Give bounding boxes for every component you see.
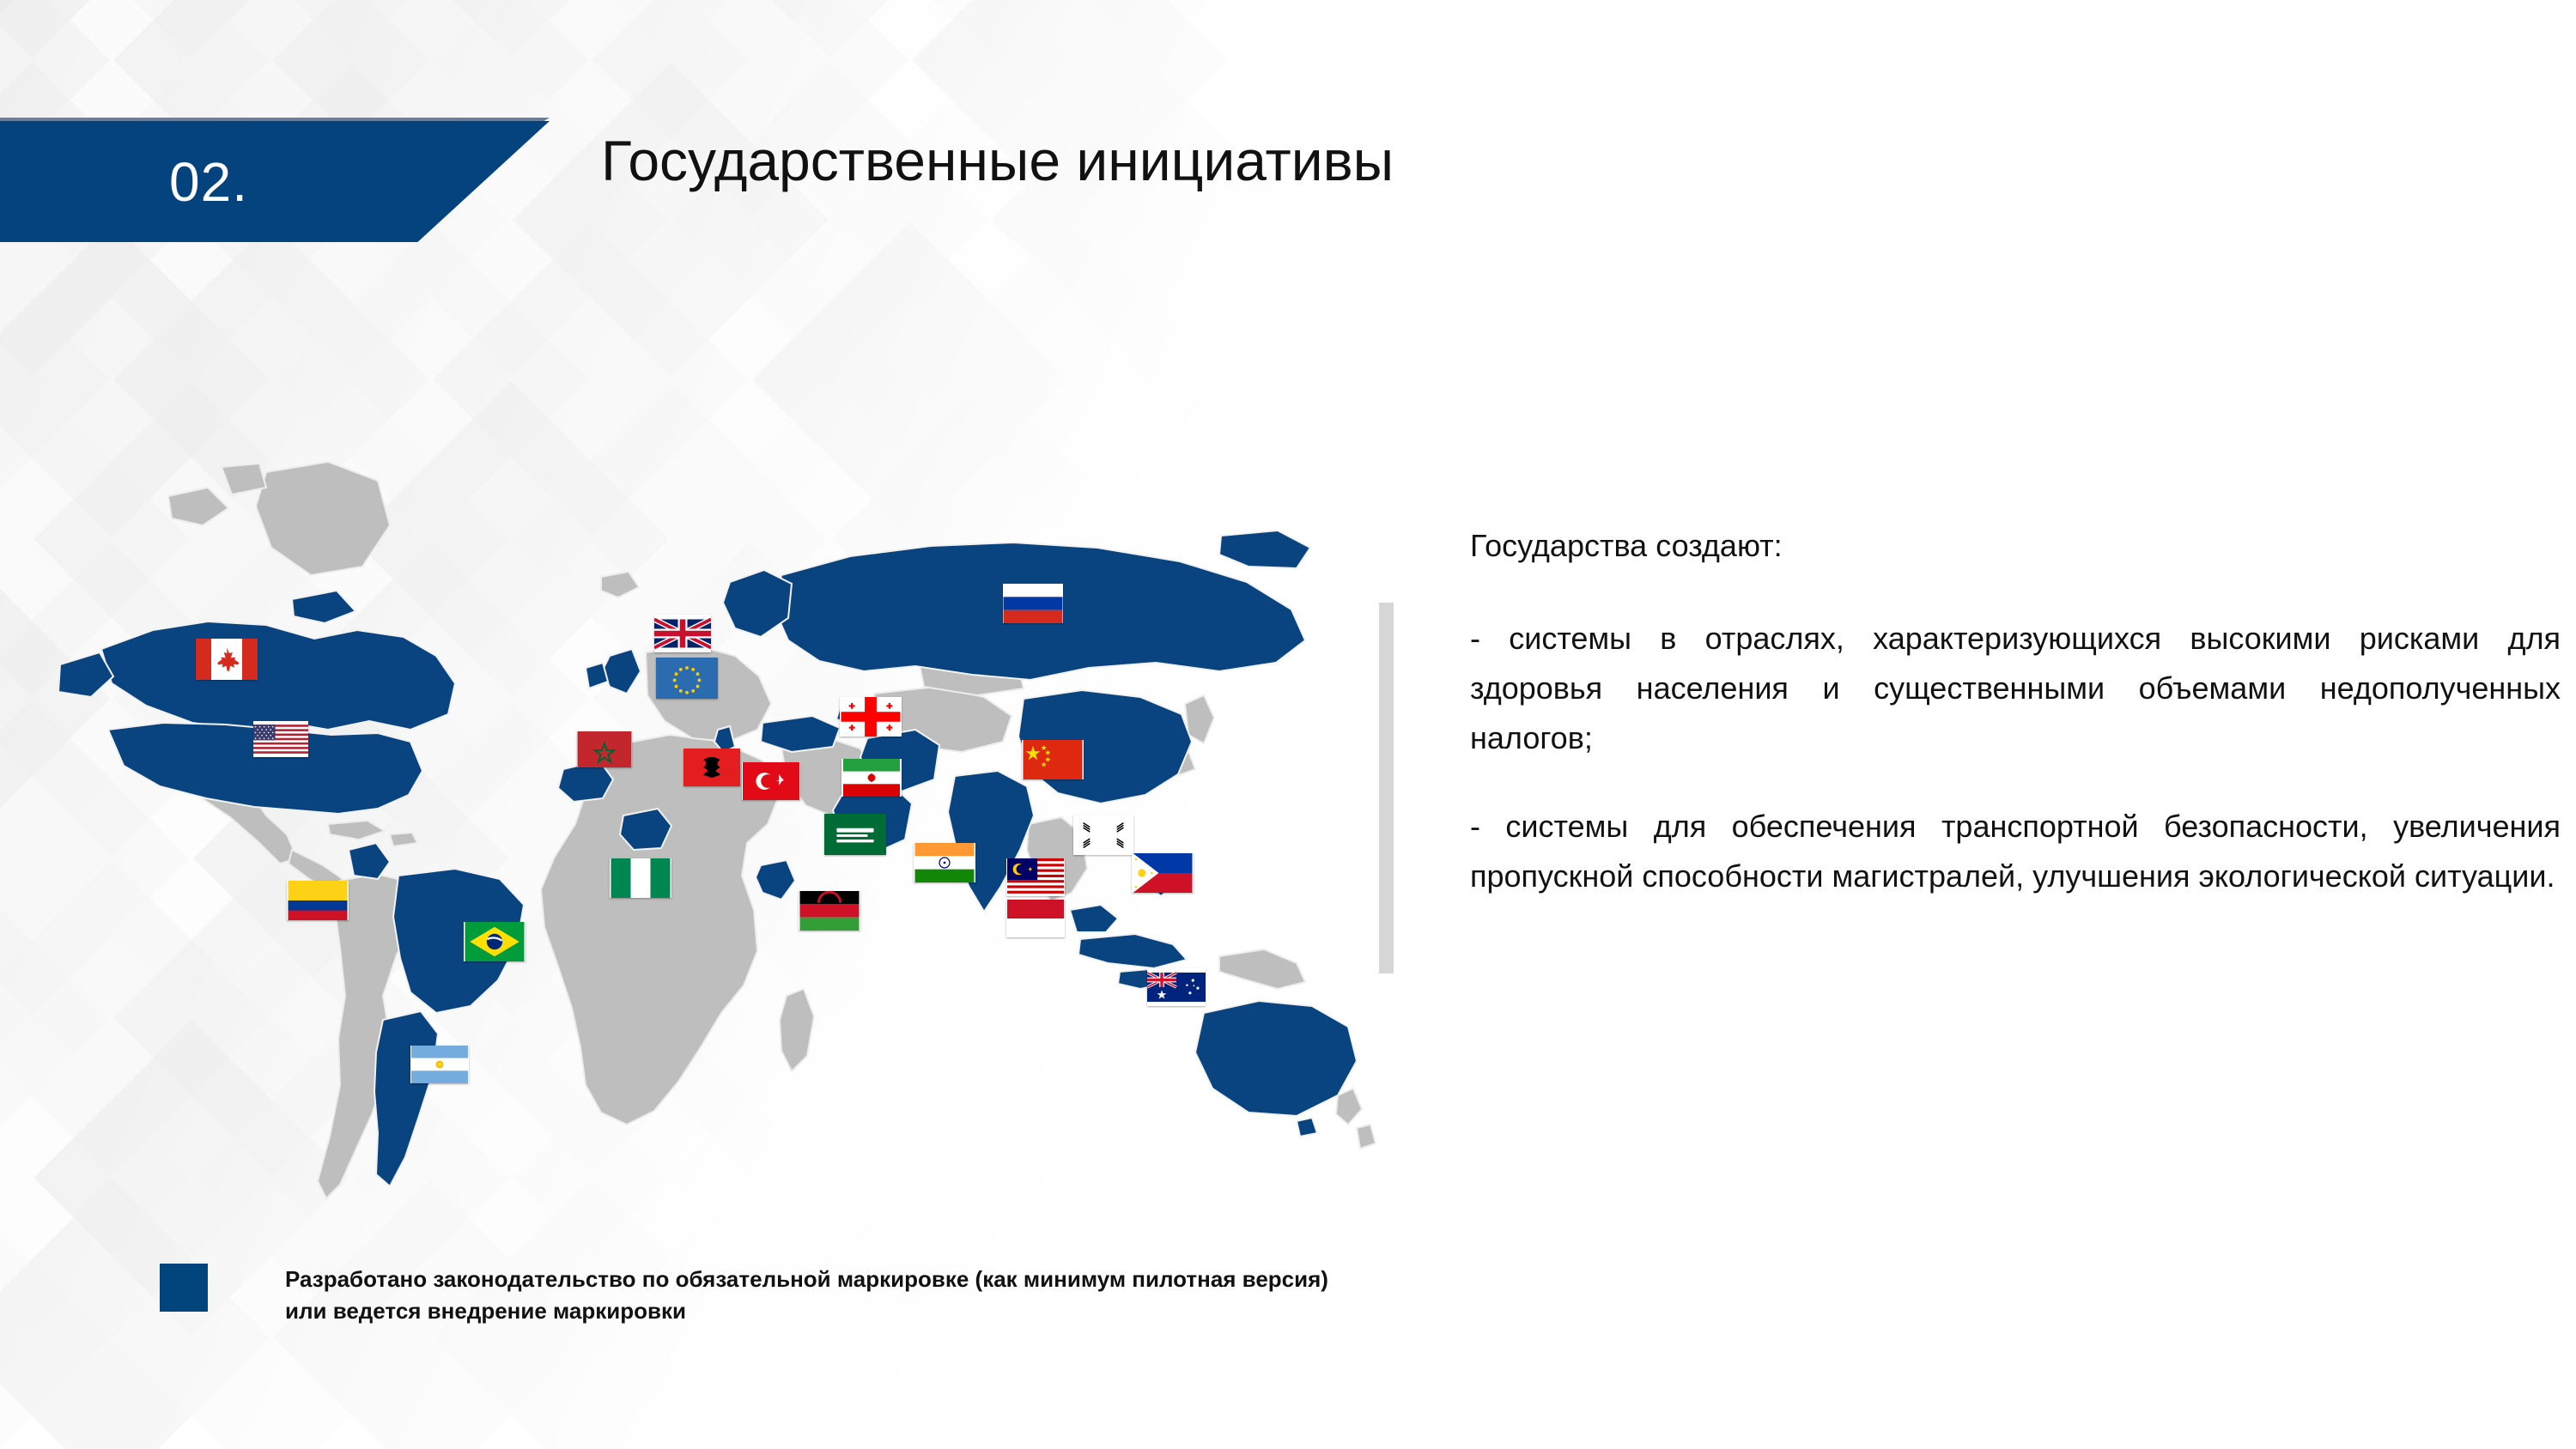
flag-nigeria xyxy=(610,858,671,898)
flag-canada xyxy=(196,639,258,680)
flag-russia xyxy=(1003,584,1063,623)
flag-south-korea xyxy=(1073,815,1133,855)
flag-malaysia xyxy=(1006,858,1065,896)
flag-malawi xyxy=(799,891,860,931)
flag-albania xyxy=(683,749,740,786)
legend-label: Разработано законодательство по обязател… xyxy=(285,1264,1358,1327)
flag-united-kingdom xyxy=(654,615,711,652)
flag-morocco xyxy=(577,731,632,767)
flag-brazil xyxy=(464,922,526,961)
slide-root: 02. Государственные инициативы xyxy=(0,0,2576,1449)
flag-indonesia xyxy=(1006,900,1065,937)
flag-georgia xyxy=(840,697,902,737)
flag-argentina xyxy=(410,1046,469,1083)
content-divider xyxy=(1379,603,1394,973)
content-paragraph-2: - системы для обеспечения транспортной б… xyxy=(1470,802,2561,902)
content-lead: Государства создают: xyxy=(1470,525,2561,567)
flag-colombia xyxy=(287,881,349,920)
flag-china xyxy=(1022,740,1084,779)
flag-turkey xyxy=(742,762,800,800)
legend-color-swatch xyxy=(160,1264,208,1312)
flag-saudi-arabia xyxy=(824,814,886,855)
flag-australia xyxy=(1147,968,1206,1006)
content-paragraph-1: - системы в отраслях, характеризующихся … xyxy=(1470,614,2561,764)
map-legend: Разработано законодательство по обязател… xyxy=(160,1264,1358,1327)
flag-philippines xyxy=(1132,853,1194,893)
flag-united-states xyxy=(253,721,308,757)
content-text-column: Государства создают: - системы в отрасля… xyxy=(1470,525,2561,901)
flag-india xyxy=(914,843,975,882)
flag-european-union xyxy=(656,658,718,699)
flag-iran xyxy=(841,759,902,797)
